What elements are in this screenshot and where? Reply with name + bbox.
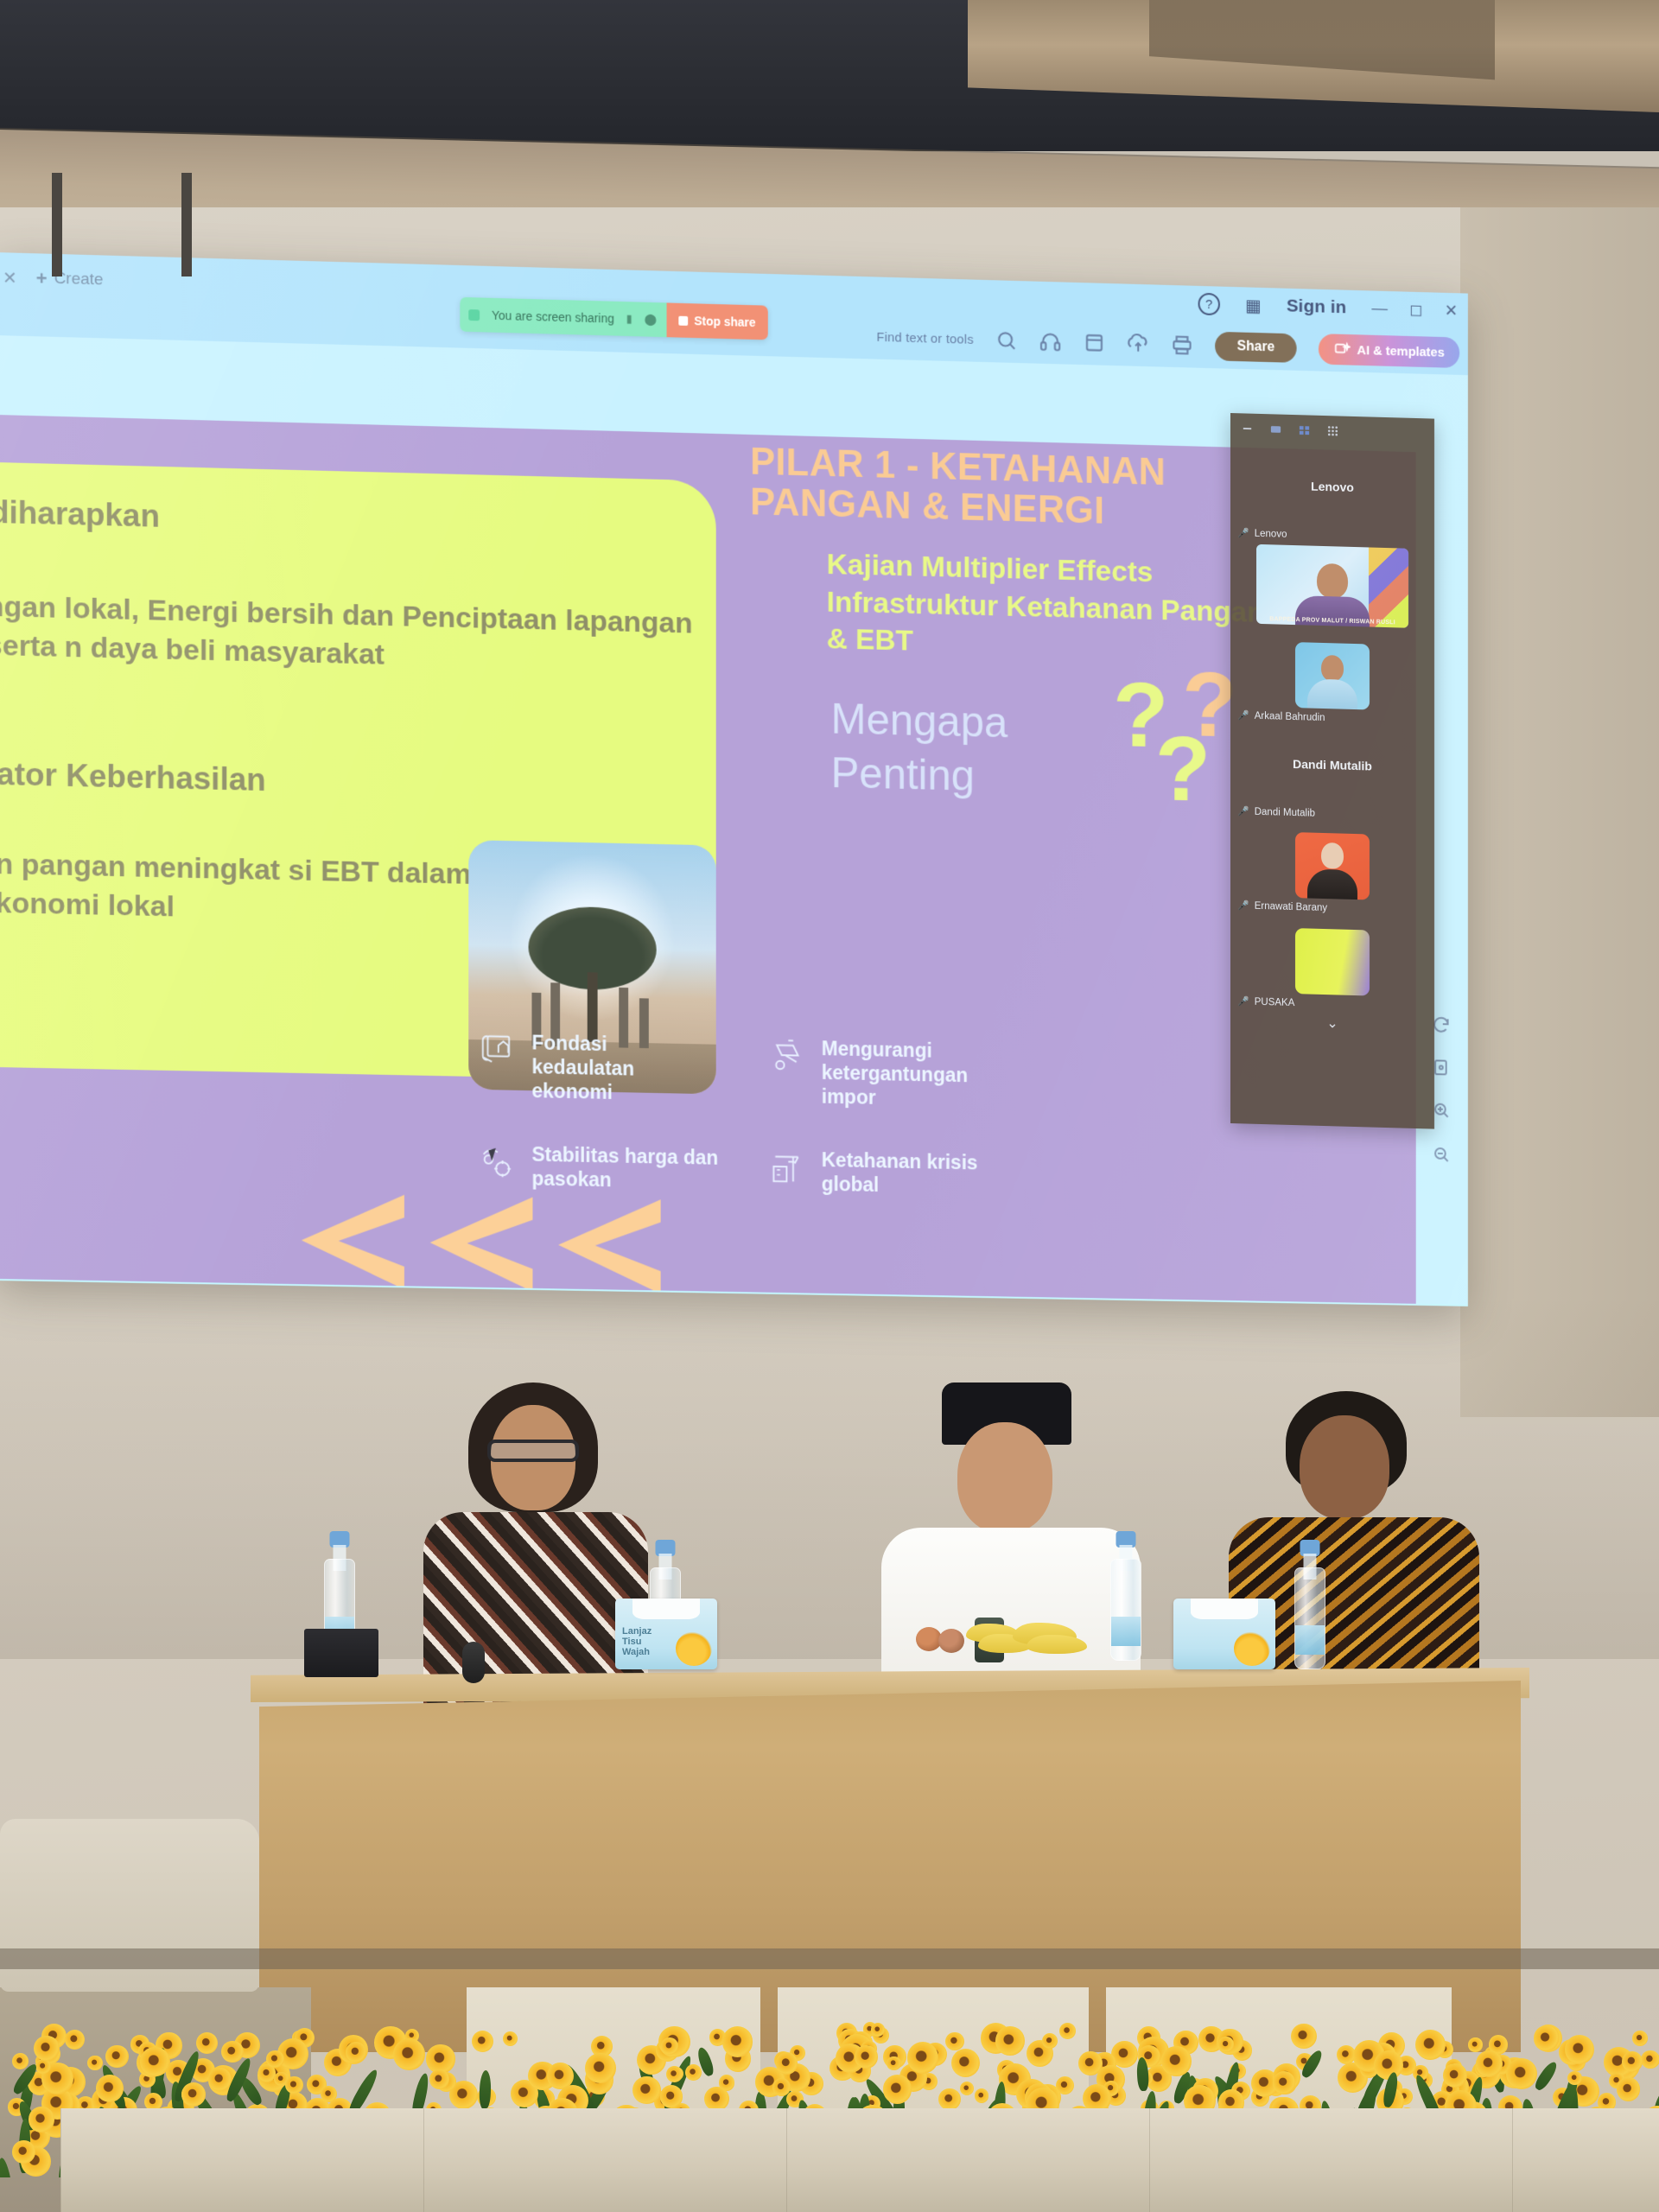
search-icon[interactable] xyxy=(995,329,1017,352)
flower xyxy=(472,2031,493,2052)
participant-thumbnail xyxy=(1295,832,1370,899)
flower xyxy=(87,2056,102,2070)
laptop-1 xyxy=(304,1629,378,1677)
planter-4 xyxy=(1149,2108,1512,2212)
planter-3 xyxy=(786,2108,1149,2212)
chevron-decoration xyxy=(302,1193,661,1294)
help-icon[interactable]: ? xyxy=(1198,293,1220,315)
chevron-left-icon-1 xyxy=(302,1193,404,1290)
find-input[interactable]: Find text or tools xyxy=(876,329,973,346)
grid-view-icon[interactable] xyxy=(1326,424,1339,437)
flower xyxy=(883,2075,912,2103)
fruit-apple xyxy=(938,1629,964,1653)
right-wall xyxy=(1460,207,1659,1417)
participant-body xyxy=(1307,868,1357,899)
planter-2 xyxy=(423,2108,786,2212)
wheelbarrow-icon xyxy=(767,1035,806,1076)
minimize-button[interactable]: — xyxy=(1371,299,1387,318)
share-button[interactable]: Share xyxy=(1215,332,1296,363)
water-bottle-4 xyxy=(1294,1540,1325,1669)
participant-face xyxy=(1317,563,1348,599)
flower xyxy=(1565,2035,1594,2064)
feature-item-3: Mengurangi ketergantungan impor xyxy=(767,1035,980,1111)
flower xyxy=(585,2053,615,2083)
zoom-out-icon[interactable] xyxy=(1431,1144,1451,1165)
glasses-icon xyxy=(487,1440,579,1462)
flower xyxy=(960,2082,975,2096)
face xyxy=(1300,1415,1389,1519)
stop-share-label: Stop share xyxy=(694,314,755,329)
mic-muted-icon: 🎤 xyxy=(1237,995,1249,1007)
flower xyxy=(140,2047,170,2077)
flower xyxy=(96,2075,124,2102)
close-tab-icon[interactable]: ✕ xyxy=(3,267,17,289)
flower xyxy=(429,2069,449,2089)
participant-face xyxy=(1321,655,1344,682)
flower xyxy=(945,2032,963,2050)
flower xyxy=(181,2082,207,2107)
apps-icon[interactable]: ▦ xyxy=(1245,295,1261,316)
close-window-button[interactable]: ✕ xyxy=(1445,301,1458,321)
crane-building-icon xyxy=(767,1147,806,1186)
flower xyxy=(907,2042,938,2073)
mic-muted-icon: 🎤 xyxy=(1237,527,1249,538)
flower xyxy=(196,2032,218,2054)
zoom-participant-panel[interactable]: Lenovo 🎤 Lenovo BAPPEDA PROV MALUT / RIS… xyxy=(1230,413,1434,1129)
participant-tile-arkaal[interactable]: 🎤 Arkaal Bahrudin xyxy=(1230,623,1434,727)
mic-muted-icon: 🎤 xyxy=(1237,899,1249,911)
maximize-button[interactable]: ◻ xyxy=(1409,300,1422,320)
tissue-label: Lanjaz Tisu Wajah xyxy=(622,1626,652,1657)
participant-tile-lenovo-host[interactable]: Lenovo 🎤 Lenovo xyxy=(1230,442,1434,544)
flower xyxy=(776,2052,798,2075)
flower xyxy=(12,2053,29,2069)
flower xyxy=(1468,2037,1482,2051)
leaf xyxy=(0,2157,16,2177)
flower xyxy=(321,2086,337,2102)
participant-big-name: Lenovo xyxy=(1230,442,1434,530)
feature-label-2: Stabilitas harga dan pasokan xyxy=(531,1142,724,1194)
flower xyxy=(1218,2037,1233,2051)
flower xyxy=(855,2045,877,2068)
planter-5 xyxy=(1512,2108,1659,2212)
participant-body xyxy=(1307,678,1357,709)
face xyxy=(957,1422,1052,1533)
feature-item-4: Ketahanan krisis global xyxy=(767,1147,980,1198)
flower xyxy=(1161,2046,1191,2075)
flower xyxy=(65,2030,85,2050)
tissue-box-1: Lanjaz Tisu Wajah xyxy=(615,1599,717,1669)
flower xyxy=(1443,2063,1467,2088)
flower xyxy=(346,2042,366,2063)
participant-video-feed: BAPPEDA PROV MALUT / RISWAN RUSLI xyxy=(1256,544,1408,628)
flower xyxy=(1506,2058,1537,2089)
slide-title: PILAR 1 - KETAHANAN PANGAN & ENERGI xyxy=(750,442,1224,534)
speaker-view-icon[interactable] xyxy=(1269,423,1282,435)
flower xyxy=(1059,2023,1076,2039)
ai-templates-button[interactable]: AI & templates xyxy=(1319,334,1459,368)
participant-tile-ernawati[interactable]: 🎤 Ernawati Barany xyxy=(1230,817,1434,917)
chair-leg-1 xyxy=(52,173,62,276)
participant-name-0: Lenovo xyxy=(1255,528,1287,539)
flower xyxy=(1042,2033,1058,2049)
virtual-background-strip xyxy=(1369,547,1408,627)
mengapa-penting-text: Mengapa Penting xyxy=(831,692,1008,804)
flower xyxy=(1374,2050,1403,2080)
flower xyxy=(938,2088,960,2110)
chair-leg-2 xyxy=(181,173,192,276)
tissue-box-2 xyxy=(1173,1599,1275,1669)
feature-label-4: Ketahanan krisis global xyxy=(822,1147,980,1198)
participant-tile-dandi[interactable]: Dandi Mutalib 🎤 Dandi Mutalib xyxy=(1230,721,1434,823)
bottle-body xyxy=(1294,1567,1325,1669)
stop-share-button[interactable]: Stop share xyxy=(667,302,768,340)
flower xyxy=(221,2041,244,2063)
flower xyxy=(975,2088,988,2102)
flower xyxy=(995,2026,1025,2056)
flower xyxy=(35,2059,51,2075)
duck-icon xyxy=(1234,1631,1270,1666)
participant-face xyxy=(1321,842,1344,869)
flower xyxy=(208,2068,232,2091)
flower xyxy=(105,2045,129,2069)
tissue-sheet xyxy=(632,1599,700,1619)
screen-share-text: You are screen sharing xyxy=(492,308,614,326)
screen-share-status: You are screen sharing ▮ ⬤ xyxy=(460,297,666,337)
upload-icon[interactable] xyxy=(1128,333,1149,355)
flower-decoration xyxy=(0,2013,1659,2212)
tissue-sheet xyxy=(1191,1599,1258,1619)
microphone-icon[interactable]: ▮ xyxy=(626,312,632,326)
question-mark-3: ? xyxy=(1155,730,1211,807)
video-icon[interactable]: ⬤ xyxy=(645,313,657,327)
flower xyxy=(393,2038,425,2070)
mic-muted-icon: 🎤 xyxy=(1237,805,1249,817)
flower xyxy=(1415,2030,1446,2060)
gallery-view-icon[interactable] xyxy=(1298,423,1311,436)
book-house-icon xyxy=(477,1029,517,1070)
right-column-heading: Kajian Multiplier Effects Infrastruktur … xyxy=(827,546,1267,669)
flower xyxy=(772,2078,791,2096)
feature-item-2: Stabilitas harga dan pasokan xyxy=(477,1141,724,1194)
bottle-label xyxy=(1295,1625,1325,1655)
mic-muted-icon: 🎤 xyxy=(1237,709,1249,721)
flower xyxy=(1291,2024,1316,2049)
tissue-brand: Lanjaz xyxy=(622,1626,652,1637)
flower xyxy=(547,2063,574,2089)
flower xyxy=(503,2031,518,2046)
feature-label-3: Mengurangi ketergantungan impor xyxy=(822,1036,980,1111)
flower xyxy=(1641,2050,1659,2069)
flower xyxy=(1273,2071,1295,2094)
flower xyxy=(685,2064,702,2081)
planter-1 xyxy=(60,2108,423,2212)
fruit-banana xyxy=(1027,1635,1087,1654)
flower xyxy=(266,2050,284,2069)
flower xyxy=(1056,2076,1074,2094)
tissue-line-1: Tisu xyxy=(622,1637,652,1647)
slide-canvas[interactable]: PILAR 1 - KETAHANAN PANGAN & ENERGI g di… xyxy=(0,415,1443,1304)
microphone-1 xyxy=(462,1642,485,1683)
flower xyxy=(632,2076,660,2104)
flower xyxy=(12,2140,35,2164)
feature-label-1: Fondasi kedaulatan ekonomi xyxy=(531,1031,707,1107)
sign-in-button[interactable]: Sign in xyxy=(1287,296,1346,319)
print-icon[interactable] xyxy=(1172,334,1193,356)
flower xyxy=(1567,2071,1582,2086)
flower xyxy=(722,2026,753,2057)
participant-tile-bappeda[interactable]: BAPPEDA PROV MALUT / RISWAN RUSLI xyxy=(1230,538,1434,629)
stop-icon xyxy=(679,315,689,325)
sparkle-icon xyxy=(1333,340,1350,358)
headphones-icon[interactable] xyxy=(1039,330,1061,353)
sharing-indicator-icon xyxy=(468,309,480,321)
duck-icon xyxy=(676,1631,712,1666)
feature-item-1: Fondasi kedaulatan ekonomi xyxy=(477,1029,708,1106)
flower xyxy=(285,2076,302,2094)
tissue-line-2: Wajah xyxy=(622,1647,652,1657)
participant-name-5: PUSAKA xyxy=(1255,996,1295,1007)
minimize-icon[interactable] xyxy=(1241,422,1254,435)
flower xyxy=(1632,2031,1648,2046)
notes-icon[interactable] xyxy=(1084,332,1105,354)
mengapa-line-1: Mengapa xyxy=(831,692,1008,750)
chevron-down-icon[interactable]: ⌄ xyxy=(1230,1007,1434,1044)
wall-base-trim xyxy=(0,1948,1659,1969)
flower xyxy=(1476,2050,1503,2077)
chevron-left-icon-3 xyxy=(558,1198,660,1294)
mengapa-line-2: Penting xyxy=(831,746,1008,804)
flower xyxy=(29,2107,54,2132)
flower xyxy=(1622,2051,1643,2072)
flower xyxy=(887,2056,900,2070)
flower xyxy=(1534,2025,1559,2050)
ai-templates-label: AI & templates xyxy=(1357,343,1444,360)
chevron-left-icon-2 xyxy=(430,1195,533,1292)
plus-icon: + xyxy=(36,267,48,289)
window-buttons: — ◻ ✕ xyxy=(1371,299,1458,321)
participant-big-name: Dandi Mutalib xyxy=(1230,721,1434,808)
create-button[interactable]: + Create xyxy=(36,267,104,291)
flower xyxy=(34,2036,59,2061)
flower xyxy=(661,2037,678,2055)
fruit-plate-2 xyxy=(1013,1614,1142,1654)
participant-thumbnail xyxy=(1295,928,1370,995)
flower xyxy=(1617,2077,1640,2101)
participant-tile-pusaka[interactable]: 🎤 PUSAKA xyxy=(1230,911,1434,1013)
participant-thumbnail xyxy=(1295,642,1370,709)
flower xyxy=(951,2049,980,2077)
